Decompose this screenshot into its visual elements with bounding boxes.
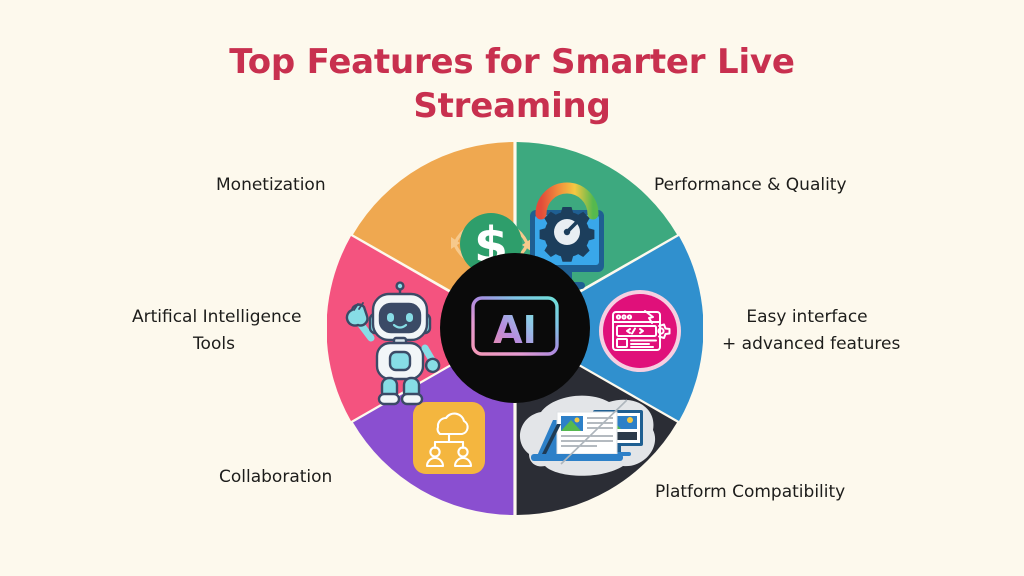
page-title-line-1: Top Features for Smarter Live: [0, 40, 1024, 84]
browser-code-gear-icon: [599, 290, 681, 372]
label-platform-compatibility[interactable]: Platform Compatibility: [655, 479, 845, 506]
label-platform-compatibility-text: Platform Compatibility: [655, 482, 845, 502]
page-title: Top Features for Smarter Live Streaming: [0, 40, 1024, 128]
label-easy-interface-line-2: + advanced features: [722, 331, 892, 358]
label-easy-interface[interactable]: Easy interface + advanced features: [722, 304, 892, 358]
cloud-team-network-icon: [413, 402, 485, 474]
infographic-canvas: Top Features for Smarter Live Streaming: [0, 0, 1024, 576]
label-ai-tools-line-1: Artifical Intelligence: [132, 307, 302, 327]
label-monetization-text: Monetization: [216, 175, 326, 195]
label-monetization[interactable]: Monetization: [216, 172, 326, 199]
label-easy-interface-line-1: Easy interface: [746, 307, 867, 327]
label-ai-tools[interactable]: Artifical Intelligence Tools: [132, 304, 296, 358]
feature-wheel: $: [327, 140, 703, 516]
label-performance-text: Performance & Quality: [654, 175, 847, 195]
label-ai-tools-line-2: Tools: [132, 331, 296, 358]
ai-badge-icon[interactable]: AI: [440, 253, 590, 403]
page-title-line-2: Streaming: [0, 84, 1024, 128]
ai-badge-text: AI: [493, 308, 537, 352]
label-performance[interactable]: Performance & Quality: [654, 172, 847, 199]
label-collaboration[interactable]: Collaboration: [219, 464, 332, 491]
label-collaboration-text: Collaboration: [219, 467, 332, 487]
